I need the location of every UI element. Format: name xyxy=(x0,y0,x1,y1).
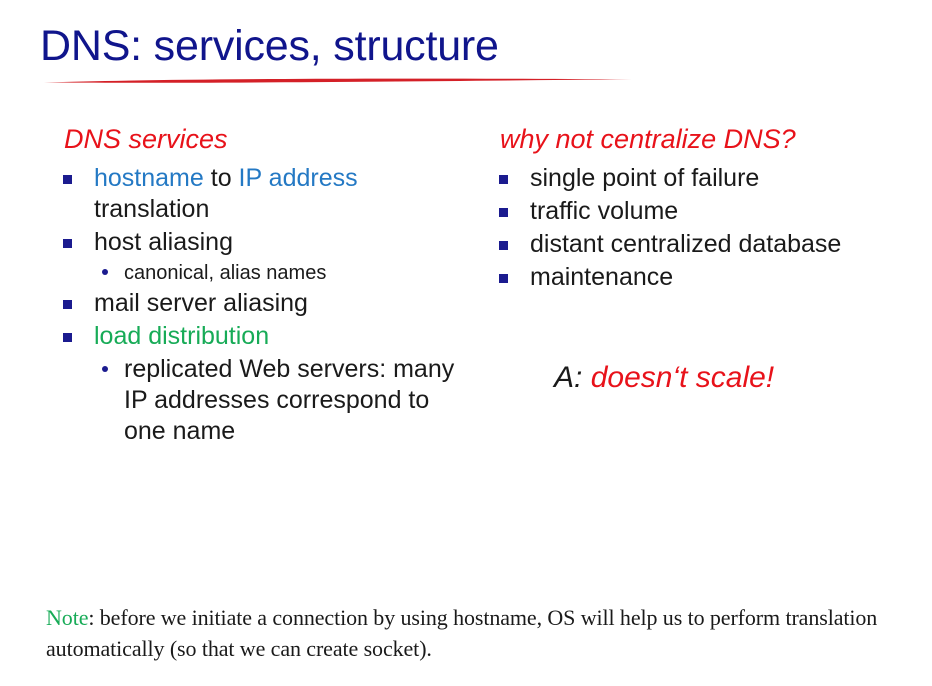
dot-bullet-icon xyxy=(102,366,108,372)
square-bullet-icon xyxy=(63,300,72,309)
left-column: DNS services hostname to IP address tran… xyxy=(58,122,458,449)
square-bullet-icon xyxy=(63,175,72,184)
bullet-text-mail-server-aliasing: mail server aliasing xyxy=(94,289,308,317)
square-bullet-icon xyxy=(499,274,508,283)
sub-list-item-canonical-alias: canonical, alias names xyxy=(94,260,458,286)
list-item-mail-server-aliasing: mail server aliasing xyxy=(58,288,458,319)
square-bullet-icon xyxy=(63,333,72,342)
sub-list-item-replicated-web-servers: replicated Web servers: many IP addresse… xyxy=(94,354,458,447)
bullet-text-maintenance: maintenance xyxy=(530,263,673,291)
bullet-text-ip-address: IP address xyxy=(239,164,358,192)
bullet-text-traffic-volume: traffic volume xyxy=(530,197,678,225)
sub-bullet-text-canonical-alias: canonical, alias names xyxy=(124,262,326,284)
square-bullet-icon xyxy=(63,239,72,248)
centralization-problems-list: single point of failure traffic volume d… xyxy=(494,163,914,293)
answer-text: doesn‘t scale! xyxy=(591,361,774,394)
list-item-maintenance: maintenance xyxy=(494,262,914,293)
list-item-hostname-translation: hostname to IP address translation xyxy=(58,163,458,225)
list-item-distant-centralized-database: distant centralized database xyxy=(494,229,914,260)
list-item-traffic-volume: traffic volume xyxy=(494,196,914,227)
footer-note-text: : before we initiate a connection by usi… xyxy=(46,605,877,661)
list-item-load-distribution: load distribution replicated Web servers… xyxy=(58,321,458,447)
title-block: DNS: services, structure xyxy=(40,22,740,70)
title-underline-stroke xyxy=(42,76,634,85)
answer-label: A: xyxy=(554,361,582,394)
footer-note-keyword: Note xyxy=(46,605,88,630)
square-bullet-icon xyxy=(499,175,508,184)
dns-services-list: hostname to IP address translation host … xyxy=(58,163,458,447)
square-bullet-icon xyxy=(499,241,508,250)
bullet-text-single-point-of-failure: single point of failure xyxy=(530,164,759,192)
answer-callout: A: doesn‘t scale! xyxy=(554,360,774,396)
footer-note: Note: before we initiate a connection by… xyxy=(46,602,906,664)
load-distribution-sublist: replicated Web servers: many IP addresse… xyxy=(94,354,458,447)
page-title: DNS: services, structure xyxy=(40,22,740,70)
sub-bullet-text-replicated-web-servers: replicated Web servers: many IP addresse… xyxy=(124,355,454,445)
slide-canvas: DNS: services, structure DNS services ho… xyxy=(0,0,932,686)
left-column-heading: DNS services xyxy=(64,122,458,156)
list-item-single-point-of-failure: single point of failure xyxy=(494,163,914,194)
bullet-text-host-aliasing: host aliasing xyxy=(94,228,233,256)
right-column-heading: why not centralize DNS? xyxy=(500,122,914,156)
bullet-text-distant-centralized-database: distant centralized database xyxy=(530,230,841,258)
square-bullet-icon xyxy=(499,208,508,217)
bullet-text-translation: translation xyxy=(94,195,209,223)
dot-bullet-icon xyxy=(102,269,108,275)
bullet-text-hostname: hostname xyxy=(94,164,204,192)
bullet-text-load-distribution: load distribution xyxy=(94,322,269,350)
right-column: why not centralize DNS? single point of … xyxy=(494,122,914,295)
bullet-text-to: to xyxy=(204,164,239,192)
host-aliasing-sublist: canonical, alias names xyxy=(94,260,458,286)
list-item-host-aliasing: host aliasing canonical, alias names xyxy=(58,227,458,286)
